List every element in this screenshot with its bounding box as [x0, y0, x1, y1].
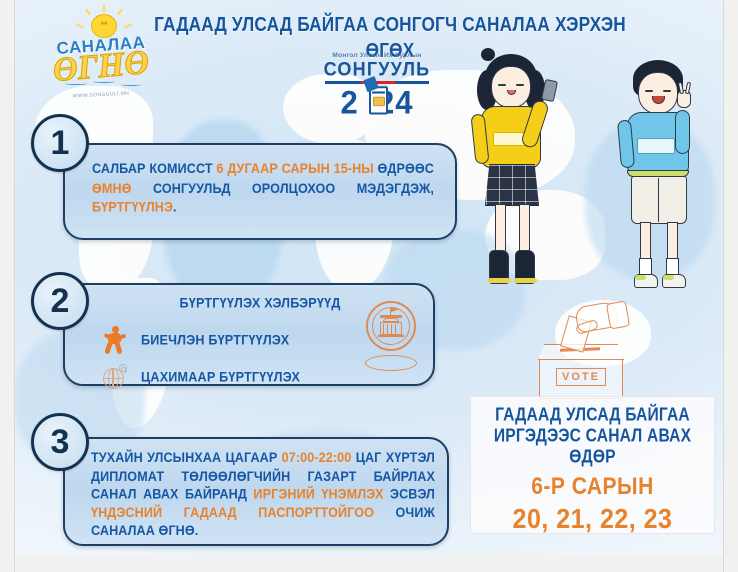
wave-icon [93, 80, 115, 83]
registration-option-online[interactable]: ЦАХИМААР БҮРТГҮҮЛЭХ [101, 363, 300, 391]
registration-option-in-person[interactable]: БИЕЧЛЭН БҮРТГҮҮЛЭХ [101, 326, 300, 354]
seg-highlight: 6 ДУГААР САРЫН 15-НЫ [216, 161, 373, 176]
voting-days: 20, 21, 22, 23 [471, 503, 714, 535]
embassy-location-pin-icon [361, 301, 421, 375]
wave-icon [121, 83, 141, 86]
step-badge-1: 1 [31, 114, 89, 172]
brand-logo: ^^ САНАЛАА ӨГНӨ WWW.SONGUULI.MN [43, 4, 155, 108]
hand-dropping-ballot-icon: VOTE [520, 300, 650, 400]
seg: САЛБАР КОМИССТ [92, 161, 216, 176]
emblem-year-left: 2 [341, 84, 359, 121]
ballot-envelope-icon [373, 96, 385, 105]
poster-board: ^^ САНАЛАА ӨГНӨ WWW.SONGUULI.MN ГАДААД У… [15, 0, 723, 556]
seg-highlight: ИРГЭНИЙ ҮНЭМЛЭХ [253, 487, 383, 502]
character-boy-peace-sign [615, 46, 723, 298]
option-label-in-person: БИЕЧЛЭН БҮРТГҮҮЛЭХ [141, 332, 289, 347]
logo-url-text: WWW.SONGUULI.MN [51, 89, 151, 100]
sun-face-icon: ^^ [98, 21, 110, 30]
infographic-poster: ^^ САНАЛАА ӨГНӨ WWW.SONGUULI.MN ГАДААД У… [0, 0, 738, 572]
option-label-online: ЦАХИМААР БҮРТГҮҮЛЭХ [141, 369, 300, 384]
seg-highlight: 07:00-22:00 [282, 450, 352, 465]
smartphone-icon [541, 79, 558, 102]
globe-signal-icon [101, 363, 127, 391]
election-emblem: Монгол Улсын Их Хурлын СОНГУУЛЬ 2024 [313, 52, 441, 114]
character-girl-with-phone [467, 44, 577, 299]
sweater-print [637, 138, 675, 154]
step-card-3: ТУХАЙН УЛСЫНХАА ЦАГААР 07:00-22:00 ЦАГ Х… [63, 437, 449, 546]
step-2-options: БИЕЧЛЭН БҮРТГҮҮЛЭХ ЦАХИМААР БҮРТГҮҮЛЭХ [101, 317, 300, 391]
ballot-slot-icon [372, 91, 385, 93]
seg: ТУХАЙН УЛСЫНХАА ЦАГААР [91, 450, 282, 465]
step-card-1: САЛБАР КОМИССТ 6 ДУГААР САРЫН 15-НЫ ӨДРӨ… [63, 143, 457, 240]
step-badge-2: 2 [31, 272, 89, 330]
seg: ЭСВЭЛ [384, 487, 435, 502]
voting-dates-panel: ГАДААД УЛСАД БАЙГАА ИРГЭДЭЭС САНАЛ АВАХ … [470, 396, 715, 534]
seg: ӨДРӨӨС [374, 161, 434, 176]
seg: . [173, 200, 177, 215]
step-1-text: САЛБАР КОМИССТ 6 ДУГААР САРЫН 15-НЫ ӨДРӨ… [92, 160, 434, 218]
seg-highlight: БҮРТГҮҮЛНЭ [92, 200, 173, 215]
step-card-2: БҮРТГҮҮЛЭХ ХЭЛБЭРҮҮД БИЕЧЛЭН БҮРТГҮҮЛЭХ [63, 283, 435, 386]
vote-box-label: VOTE [556, 368, 606, 386]
dates-heading-line-3: ӨДӨР [471, 445, 714, 469]
seg-highlight: ӨМНӨ [92, 180, 132, 195]
seg-highlight: ҮНДЭСНИЙ ГАДААД ПАСПОРТТОЙГОО [91, 505, 374, 520]
girl-skirt [485, 164, 539, 206]
seg: СОНГУУЛЬД ОРОЛЦОХОО МЭДЭГДЭЖ, [132, 180, 434, 195]
emblem-year: 2024 [313, 84, 441, 122]
step-badge-3: 3 [31, 413, 89, 471]
step-3-text: ТУХАЙН УЛСЫНХАА ЦАГААР 07:00-22:00 ЦАГ Х… [91, 449, 435, 540]
wave-icon [65, 82, 87, 85]
walking-person-icon [101, 326, 127, 354]
emblem-title: СОНГУУЛЬ [313, 58, 441, 81]
voting-month: 6-Р САРЫН [471, 473, 714, 500]
frame-line-right [723, 0, 724, 572]
